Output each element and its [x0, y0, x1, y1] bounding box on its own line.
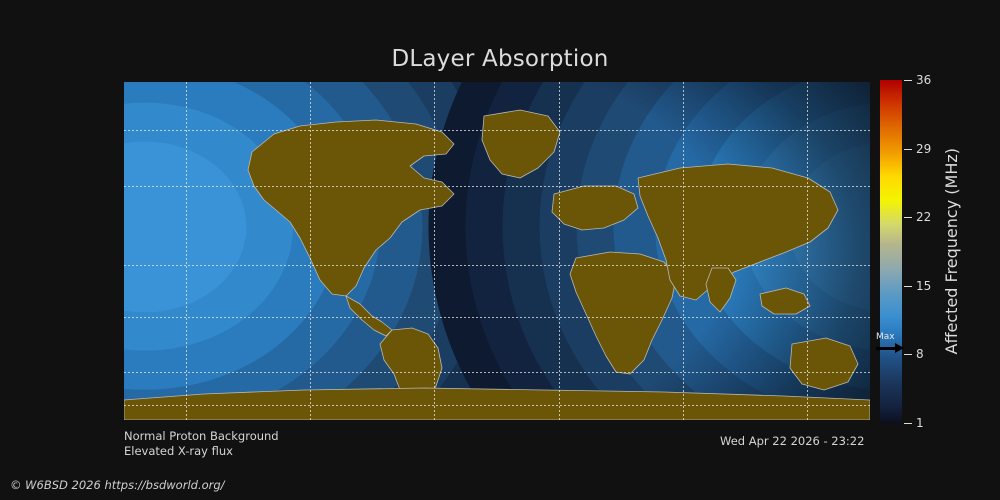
page-title: DLayer Absorption [0, 46, 1000, 72]
max-marker: Max [876, 332, 910, 358]
colorbar [880, 80, 902, 423]
absorption-map[interactable] [124, 82, 870, 420]
timestamp: Wed Apr 22 2026 - 23:22 [720, 434, 864, 448]
grid-line-lon [559, 82, 560, 420]
continents [124, 82, 870, 420]
max-arrow-icon [876, 343, 904, 353]
grid-line-lon [807, 82, 808, 420]
colorbar-tick [904, 217, 912, 218]
colorbar-tick [904, 286, 912, 287]
grid-line-lat [124, 405, 870, 406]
colorbar-title-label: Affected Frequency (MHz) [942, 148, 961, 354]
colorbar-tick [904, 423, 912, 424]
colorbar-title: Affected Frequency (MHz) [915, 80, 943, 423]
grid-line-lat [124, 186, 870, 187]
max-marker-label: Max [876, 332, 910, 342]
grid-line-lon [310, 82, 311, 420]
colorbar-tick [904, 80, 912, 81]
grid-line-lat [124, 130, 870, 131]
grid-line-lon [683, 82, 684, 420]
copyright-notice: © W6BSD 2026 https://bsdworld.org/ [10, 478, 225, 492]
status-line-xray: Elevated X-ray flux [124, 444, 279, 459]
grid-line-lon [434, 82, 435, 420]
status-line-proton: Normal Proton Background [124, 429, 279, 444]
colorbar-tick [904, 149, 912, 150]
app-window: DLayer Absorption [0, 0, 1000, 500]
grid-line-lat [124, 317, 870, 318]
grid-line-lon [186, 82, 187, 420]
grid-line-lat [124, 265, 870, 266]
grid-line-lat [124, 372, 870, 373]
status-text: Normal Proton Background Elevated X-ray … [124, 429, 279, 459]
